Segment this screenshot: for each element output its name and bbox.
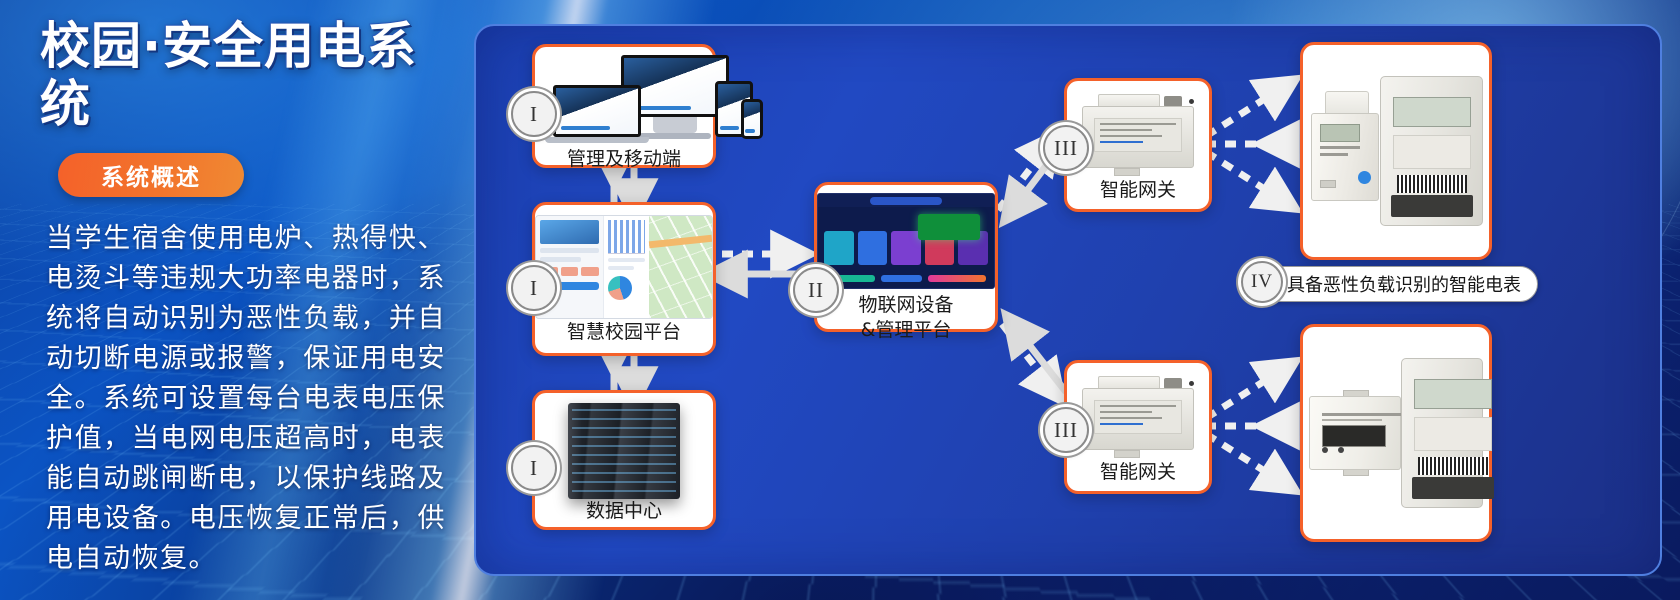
node-gateway-bottom[interactable]: III 智能网关 [1064,360,1212,494]
iot-platform-illustration [817,193,995,289]
meter-callout[interactable]: IV 具备恶性负载识别的智能电表 [1246,266,1538,302]
node-label-admin-mobile: 管理及移动端 [567,147,681,172]
node-label-data-center: 数据中心 [586,499,662,524]
badge-roman-iii-gateway-bottom: III [1043,407,1089,453]
node-label-iot-platform: 物联网设备 [858,293,953,318]
multi-device-screens-icon [535,55,713,147]
badge-roman-i-admin: I [511,91,557,137]
badge-roman-i-datacenter: I [511,445,557,491]
badge-roman-i-campus: I [511,265,557,311]
three-phase-meter-icon [1401,358,1483,508]
meter-callout-label: 具备恶性负载识别的智能电表 [1287,271,1521,297]
badge-roman-iv-meter: IV [1241,261,1283,303]
admin-mobile-illustration [535,55,713,147]
node-label-gateway-bottom: 智能网关 [1100,460,1176,485]
link-iot-to-gateway-bottom [1002,324,1066,392]
gateway-bottom-illustration [1067,371,1209,460]
overview-badge: 系统概述 [58,153,244,197]
link-iot-to-campus [722,254,798,274]
three-phase-meter-icon [1380,76,1483,226]
overview-description: 当学生宿舍使用电炉、热得快、电烫斗等违规大功率电器时，系统将自动识别为恶性负载，… [46,219,446,579]
iot-dashboard-icon [817,193,995,289]
node-label-campus-platform: 智慧校园平台 [567,320,681,345]
server-rack-icon [568,403,680,499]
link-campus-to-datacenter [614,356,634,390]
campus-platform-illustration [535,213,713,320]
link-admin-to-campus [614,168,634,202]
architecture-diagram: I 管理及移动端 I [474,24,1662,576]
meter-group-bottom[interactable] [1300,324,1492,542]
node-gateway-top[interactable]: III 智能网关 [1064,78,1212,212]
single-phase-meter-icon [1309,390,1401,476]
smart-gateway-icon [1074,374,1202,458]
single-phase-meter-icon [1309,91,1380,211]
node-data-center[interactable]: I 数据中心 [532,390,716,530]
node-campus-platform[interactable]: I 智慧校园平台 [532,202,716,356]
badge-roman-ii-iot: II [793,267,839,313]
campus-dashboard-icon [535,215,713,319]
data-center-illustration [535,403,713,499]
meter-group-top[interactable] [1300,42,1492,260]
node-label-iot-platform-2: &管理平台 [861,318,952,343]
badge-roman-iii-gateway-top: III [1043,125,1089,171]
smart-gateway-icon [1074,92,1202,176]
node-admin-mobile[interactable]: I 管理及移动端 [532,44,716,168]
gateway-top-illustration [1067,89,1209,178]
node-label-gateway-top: 智能网关 [1100,178,1176,203]
node-iot-platform[interactable]: II 物联网设备 &管理平台 [814,182,998,332]
page-title: 校园·安全用电系统 [40,18,446,133]
intro-panel: 校园·安全用电系统 系统概述 当学生宿舍使用电炉、热得快、电烫斗等违规大功率电器… [0,0,470,600]
